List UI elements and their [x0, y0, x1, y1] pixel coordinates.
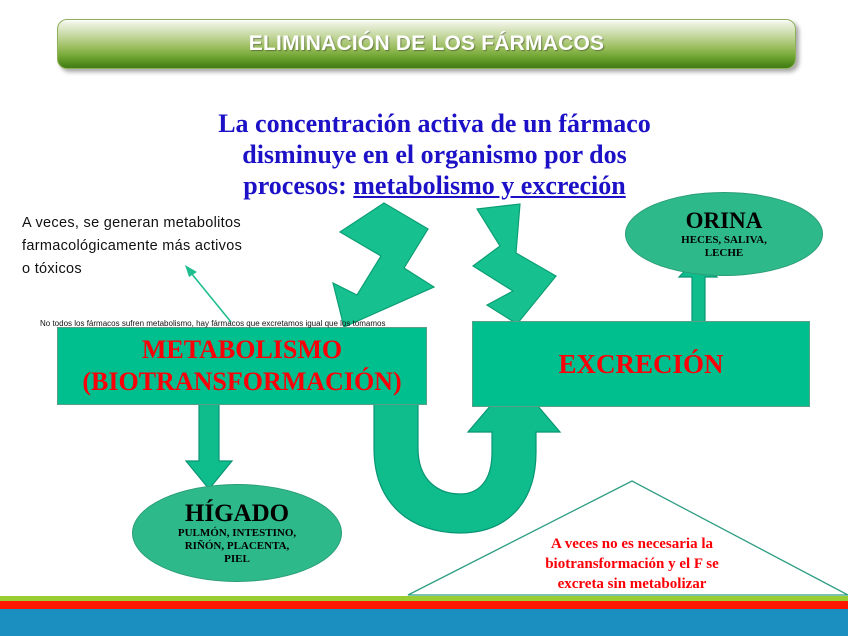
- triangle-note-line-3: excreta sin metabolizar: [512, 574, 752, 594]
- higado-ellipse[interactable]: HÍGADO PULMÓN, INTESTINO, RIÑÓN, PLACENT…: [132, 484, 342, 582]
- arrow-to-excrecion-icon: [473, 204, 556, 324]
- higado-sub-line-1: PULMÓN, INTESTINO,: [178, 527, 296, 540]
- orina-ellipse[interactable]: ORINA HECES, SALIVA, LECHE: [625, 192, 823, 276]
- metabolismo-label-line-2: (BIOTRANSFORMACIÓN): [82, 366, 401, 398]
- triangle-annotation-note: A veces no es necesaria la biotransforma…: [512, 534, 752, 594]
- metabolism-caption-note: No todos los fármacos sufren metabolismo…: [40, 319, 460, 329]
- orina-title: ORINA: [686, 208, 763, 233]
- higado-sub-line-2: RIÑÓN, PLACENTA,: [178, 540, 296, 553]
- higado-title: HÍGADO: [185, 501, 289, 526]
- orina-sub-line-2: LECHE: [681, 247, 767, 260]
- orina-sub-line-1: HECES, SALIVA,: [681, 234, 767, 247]
- excrecion-box[interactable]: EXCRECIÓN: [472, 321, 810, 407]
- orina-subtitle: HECES, SALIVA, LECHE: [681, 234, 767, 260]
- arrow-to-metabolismo-icon: [333, 203, 434, 327]
- excrecion-box-text: EXCRECIÓN: [558, 348, 723, 380]
- metabolismo-box-text: METABOLISMO (BIOTRANSFORMACIÓN): [82, 334, 401, 398]
- higado-subtitle: PULMÓN, INTESTINO, RIÑÓN, PLACENTA, PIEL: [178, 527, 296, 566]
- arrow-metabolismo-to-higado-icon: [186, 398, 232, 489]
- metabolismo-box[interactable]: METABOLISMO (BIOTRANSFORMACIÓN): [57, 327, 427, 405]
- slide-canvas: ELIMINACIÓN DE LOS FÁRMACOS La concentra…: [0, 0, 848, 636]
- metabolismo-label-line-1: METABOLISMO: [82, 334, 401, 366]
- triangle-note-line-1: A veces no es necesaria la: [512, 534, 752, 554]
- thin-pointer-arrow-icon: [185, 265, 231, 322]
- higado-sub-line-3: PIEL: [178, 553, 296, 566]
- triangle-note-line-2: biotransformación y el F se: [512, 554, 752, 574]
